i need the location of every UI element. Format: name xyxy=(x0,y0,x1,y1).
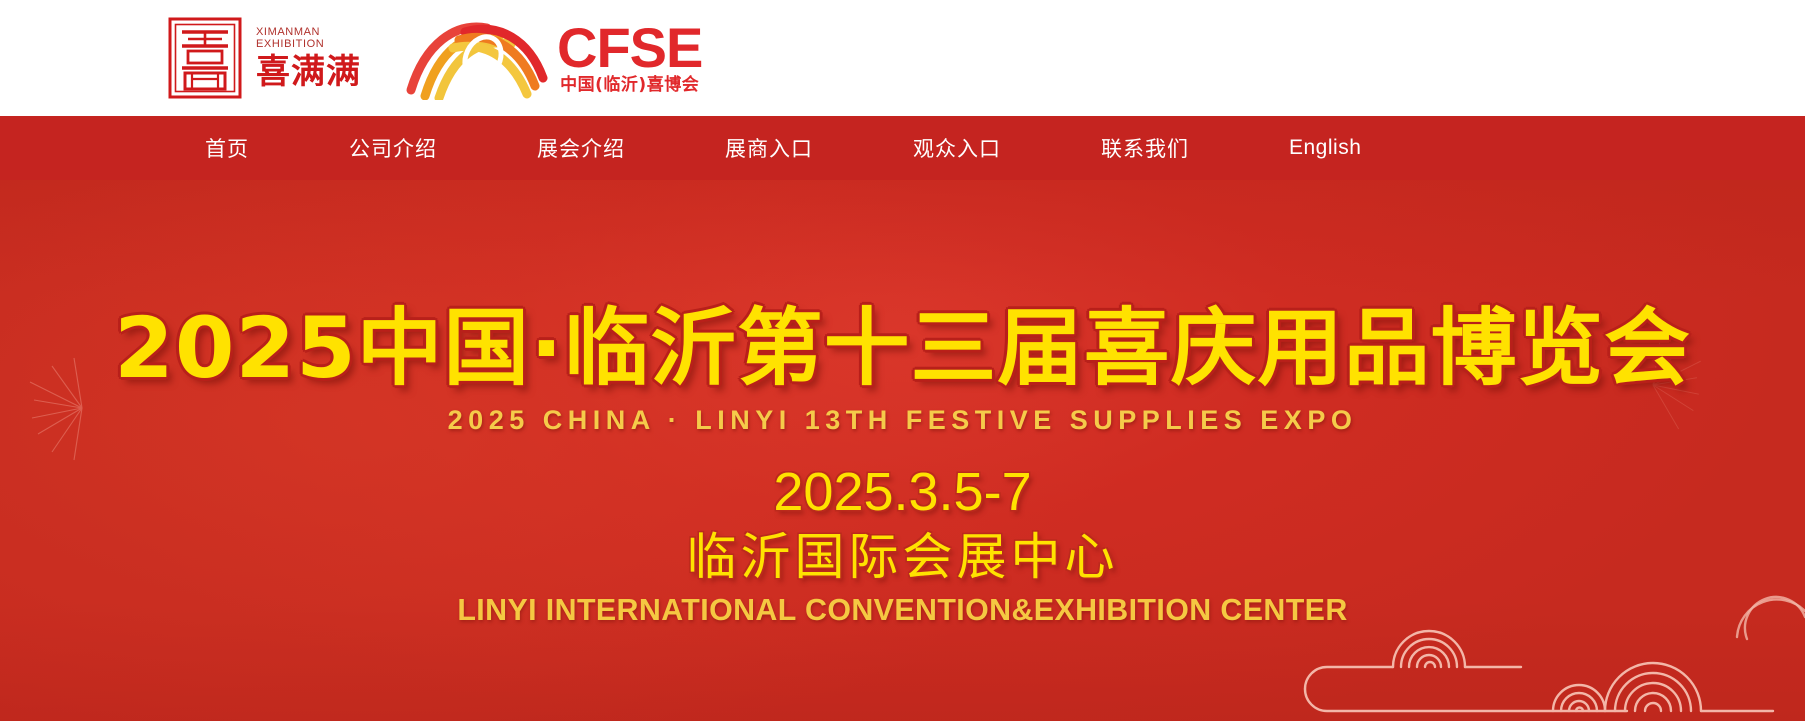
cfse-acronym: CFSE xyxy=(557,21,702,75)
hero-venue-chinese: 临沂国际会展中心 xyxy=(0,522,1805,586)
xi-seal-icon xyxy=(168,17,242,99)
cfse-brand-logo[interactable]: CFSE 中国(临沂)喜博会 xyxy=(403,16,702,100)
cfse-swoosh-icon xyxy=(403,16,553,100)
hero-subtitle-english: 2025 CHINA · LINYI 13TH FESTIVE SUPPLIES… xyxy=(0,394,1805,436)
brand-english-line-2: EXHIBITION xyxy=(256,38,361,50)
brand-chinese-name: 喜满满 xyxy=(256,54,361,90)
header-logo-bar: XIMANMAN EXHIBITION 喜满满 CFSE 中国(临沂)喜博会 xyxy=(0,0,1805,116)
nav-item-visitor-entry[interactable]: 观众入口 xyxy=(913,133,1001,163)
cfse-text-block: CFSE 中国(临沂)喜博会 xyxy=(557,21,702,95)
nav-item-expo-intro[interactable]: 展会介绍 xyxy=(537,133,625,163)
primary-brand-logo[interactable]: XIMANMAN EXHIBITION 喜满满 xyxy=(168,17,361,99)
nav-item-contact-us[interactable]: 联系我们 xyxy=(1101,133,1189,163)
nav-item-company-intro[interactable]: 公司介绍 xyxy=(349,133,437,163)
primary-brand-text: XIMANMAN EXHIBITION 喜满满 xyxy=(256,26,361,90)
brand-english-line-1: XIMANMAN xyxy=(256,26,361,38)
nav-item-exhibitor-entry[interactable]: 展商入口 xyxy=(725,133,813,163)
main-navigation: 首页 公司介绍 展会介绍 展商入口 观众入口 联系我们 English xyxy=(0,116,1805,180)
nav-item-home[interactable]: 首页 xyxy=(205,133,249,163)
cfse-chinese-subtitle: 中国(临沂)喜博会 xyxy=(560,75,699,95)
hero-banner: 2025中国·临沂第十三届喜庆用品博览会 2025 CHINA · LINYI … xyxy=(0,180,1805,721)
hero-event-date: 2025.3.5-7 xyxy=(0,436,1805,522)
hero-content: 2025中国·临沂第十三届喜庆用品博览会 2025 CHINA · LINYI … xyxy=(0,180,1805,628)
nav-item-english[interactable]: English xyxy=(1289,136,1361,160)
hero-venue-english: LINYI INTERNATIONAL CONVENTION&EXHIBITIO… xyxy=(18,586,1787,628)
hero-title: 2025中国·临沂第十三届喜庆用品博览会 xyxy=(0,180,1805,394)
